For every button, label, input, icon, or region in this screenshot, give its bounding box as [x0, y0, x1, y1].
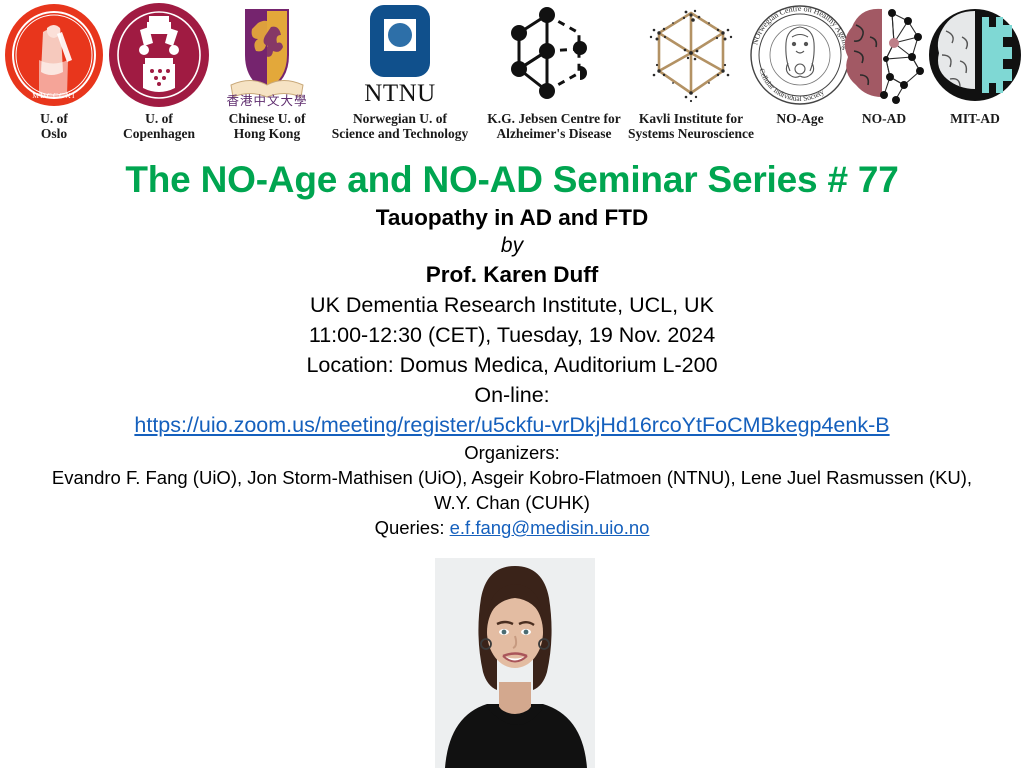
logo-caption: Norwegian U. of Science and Technology: [332, 112, 469, 141]
logo-caption: U. of Copenhagen: [123, 112, 195, 141]
logo-chinese-university-of-hong-kong: 香港中文大學 Chinese U. of Hong Kong: [214, 0, 320, 152]
seminar-datetime: 11:00-12:30 (CET), Tuesday, 19 Nov. 2024: [0, 320, 1024, 350]
no-ad-brain-network-icon: [834, 0, 934, 110]
logo-mit-ad: MIT-AD: [930, 0, 1020, 152]
logo-caption: NO-AD: [862, 112, 906, 127]
queries-email-link[interactable]: e.f.fang@medisin.uio.no: [450, 517, 650, 538]
cuhk-shield-icon: 香港中文大學: [215, 0, 319, 110]
svg-text:Cellular Individual So: Cellular Individual Society: [757, 67, 825, 103]
logo-ntnu: NTNU Norwegian U. of Science and Technol…: [322, 0, 478, 152]
jebsen-network-cube-icon: [499, 0, 609, 110]
zoom-registration-link[interactable]: https://uio.zoom.us/meeting/register/u5c…: [134, 410, 889, 440]
logo-caption: K.G. Jebsen Centre for Alzheimer's Disea…: [487, 112, 621, 141]
logo-no-age: NOrwegian Centre on Healthy Ageing Cellu…: [762, 0, 838, 152]
logo-caption: NO-Age: [776, 112, 823, 127]
portrait-illustration: [435, 558, 595, 768]
logo-university-of-copenhagen: U. of Copenhagen: [106, 0, 212, 152]
logo-kg-jebsen-centre: K.G. Jebsen Centre for Alzheimer's Disea…: [480, 0, 628, 152]
partner-logo-strip: MDCCCXI U. of Oslo: [0, 0, 1024, 152]
logo-kavli-institute: Kavli Institute for Systems Neuroscience: [620, 0, 762, 152]
svg-text:NTNU: NTNU: [364, 80, 435, 107]
organizers-label: Organizers:: [0, 440, 1024, 465]
seminar-info-block: The NO-Age and NO-AD Seminar Series # 77…: [0, 158, 1024, 541]
logo-caption: U. of Oslo: [40, 112, 68, 141]
by-label: by: [0, 232, 1024, 260]
logo-caption: Kavli Institute for Systems Neuroscience: [628, 112, 754, 141]
seminar-location: Location: Domus Medica, Auditorium L-200: [0, 350, 1024, 380]
speaker-name: Prof. Karen Duff: [0, 260, 1024, 290]
queries-label: Queries:: [375, 517, 445, 538]
svg-text:MDCCCXI: MDCCCXI: [32, 91, 75, 100]
page-title: The NO-Age and NO-AD Seminar Series # 77: [0, 158, 1024, 202]
logo-university-of-oslo: MDCCCXI U. of Oslo: [4, 0, 104, 152]
university-of-oslo-seal-icon: MDCCCXI: [3, 0, 105, 110]
queries-line: Queries: e.f.fang@medisin.uio.no: [0, 515, 1024, 541]
speaker-affiliation: UK Dementia Research Institute, UCL, UK: [0, 290, 1024, 320]
avatar: [435, 558, 595, 768]
logo-no-ad: NO-AD: [844, 0, 924, 152]
university-of-copenhagen-seal-icon: [107, 0, 211, 110]
talk-title: Tauopathy in AD and FTD: [0, 204, 1024, 232]
kavli-cube-scatter-icon: [635, 0, 747, 110]
ntnu-logo-icon: NTNU: [344, 0, 456, 110]
logo-caption: MIT-AD: [950, 112, 1000, 127]
zoom-registration-link-row: https://uio.zoom.us/meeting/register/u5c…: [0, 410, 1024, 440]
logo-caption: Chinese U. of Hong Kong: [229, 112, 306, 141]
online-label: On-line:: [0, 380, 1024, 410]
svg-text:香港中文大學: 香港中文大學: [226, 93, 307, 108]
organizers-line-2: W.Y. Chan (CUHK): [0, 490, 1024, 515]
mit-ad-brain-icon: [926, 0, 1024, 110]
organizers-line-1: Evandro F. Fang (UiO), Jon Storm-Mathise…: [0, 465, 1024, 490]
